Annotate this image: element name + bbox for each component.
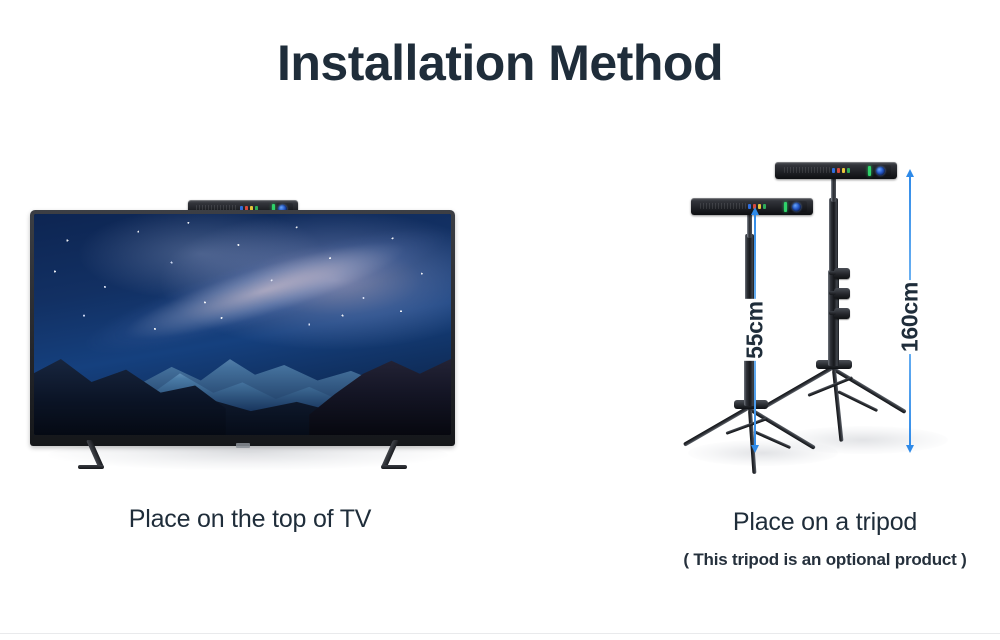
- tripod-clamp[interactable]: [834, 268, 850, 279]
- camera-lens-icon: [792, 202, 801, 211]
- caption-tv: Place on the top of TV: [20, 505, 480, 534]
- status-strip-icon: [784, 202, 787, 212]
- bottom-divider: [0, 633, 1000, 634]
- tv-foot-right: [381, 465, 407, 469]
- tv-bezel: [30, 210, 455, 446]
- dimension-label-55cm: 55cm: [739, 299, 772, 361]
- arrow-up-icon: [751, 207, 759, 215]
- arrow-down-icon: [906, 445, 914, 453]
- dimension-label-160cm: 160cm: [894, 280, 927, 354]
- tripod-pole-mid: [829, 198, 838, 274]
- dimension-160cm: 160cm: [890, 170, 930, 452]
- camera-sound-bar-icon: [775, 162, 897, 179]
- arrow-up-icon: [906, 169, 914, 177]
- tripod-clamp[interactable]: [834, 288, 850, 299]
- installation-option-tripod: 55cm 160cm Place on a tripod ( This trip…: [660, 140, 990, 590]
- camera-lens-icon: [876, 166, 885, 175]
- tv-foot-left: [78, 465, 104, 469]
- dimension-55cm: 55cm: [738, 208, 772, 452]
- led-indicator-group: [832, 168, 850, 173]
- status-strip-icon: [868, 166, 871, 176]
- installation-option-tv: Place on the top of TV: [20, 150, 480, 590]
- speaker-grill-icon: [784, 167, 830, 173]
- page-title: Installation Method: [0, 36, 1000, 91]
- tripod-pole-upper: [831, 176, 836, 202]
- flat-screen-tv: [30, 200, 455, 450]
- tv-brand-logo: [236, 443, 250, 448]
- caption-tripod: Place on a tripod: [660, 508, 990, 537]
- arrow-down-icon: [751, 445, 759, 453]
- tripod-clamp[interactable]: [834, 308, 850, 319]
- subcaption-tripod-optional: ( This tripod is an optional product ): [660, 550, 990, 570]
- tv-screen: [34, 214, 451, 435]
